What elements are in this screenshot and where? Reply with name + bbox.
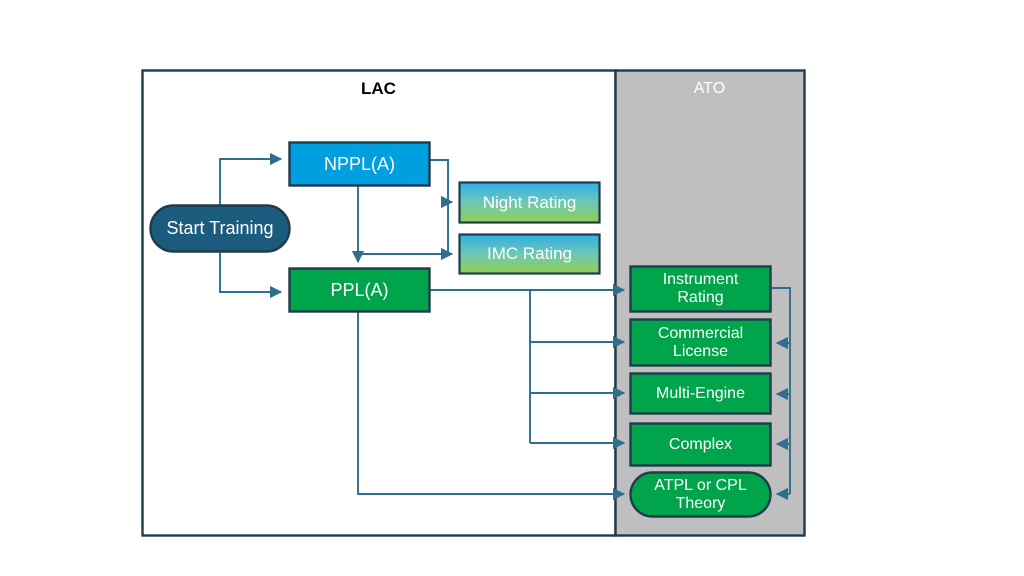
node-complex-shape[interactable]: [631, 424, 771, 466]
node-atpl-cpl-theory-shape[interactable]: [631, 473, 771, 517]
lane-title-ato: ATO: [615, 74, 804, 104]
node-ppl-a-shape[interactable]: [290, 269, 430, 312]
node-nppl-a-shape[interactable]: [290, 143, 430, 186]
diagram-canvas: LAC ATO Start Training NPPL(A) PPL(A) Ni…: [0, 0, 1024, 576]
node-start-training-shape[interactable]: [151, 206, 290, 252]
lane-title-lac: LAC: [142, 74, 615, 104]
node-multi-engine-shape[interactable]: [631, 374, 771, 414]
node-commercial-license-shape[interactable]: [631, 320, 771, 366]
node-imc-rating-shape[interactable]: [460, 235, 600, 274]
node-instrument-rating-shape[interactable]: [631, 267, 771, 312]
node-night-rating-shape[interactable]: [460, 183, 600, 223]
